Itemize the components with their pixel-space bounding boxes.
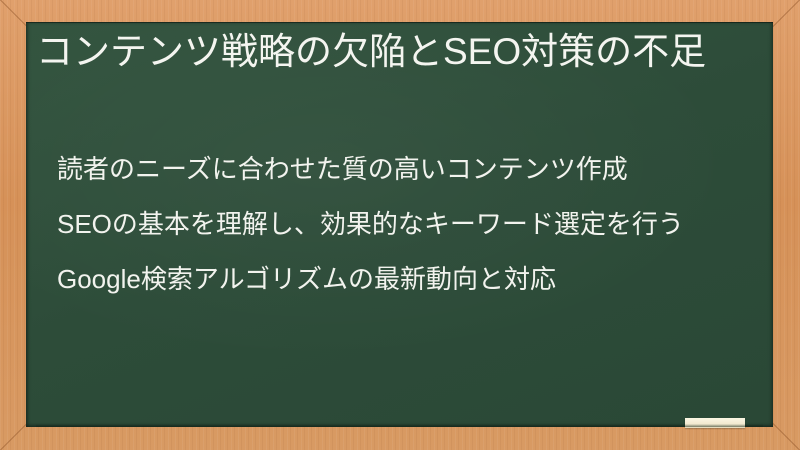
bullet-list: 読者のニーズに合わせた質の高いコンテンツ作成 SEOの基本を理解し、効果的なキー… (57, 152, 747, 296)
chalkboard-slide: コンテンツ戦略の欠陥とSEO対策の不足 読者のニーズに合わせた質の高いコンテンツ… (0, 0, 800, 450)
slide-title: コンテンツ戦略の欠陥とSEO対策の不足 (36, 28, 736, 75)
list-item: Google検索アルゴリズムの最新動向と対応 (57, 262, 747, 296)
list-item: SEOの基本を理解し、効果的なキーワード選定を行う (57, 207, 747, 241)
list-item: 読者のニーズに合わせた質の高いコンテンツ作成 (57, 152, 747, 186)
board-bottom-shadow (36, 424, 763, 427)
board-content-area: コンテンツ戦略の欠陥とSEO対策の不足 読者のニーズに合わせた質の高いコンテンツ… (36, 22, 763, 427)
chalkboard-surface: コンテンツ戦略の欠陥とSEO対策の不足 読者のニーズに合わせた質の高いコンテンツ… (26, 22, 773, 427)
